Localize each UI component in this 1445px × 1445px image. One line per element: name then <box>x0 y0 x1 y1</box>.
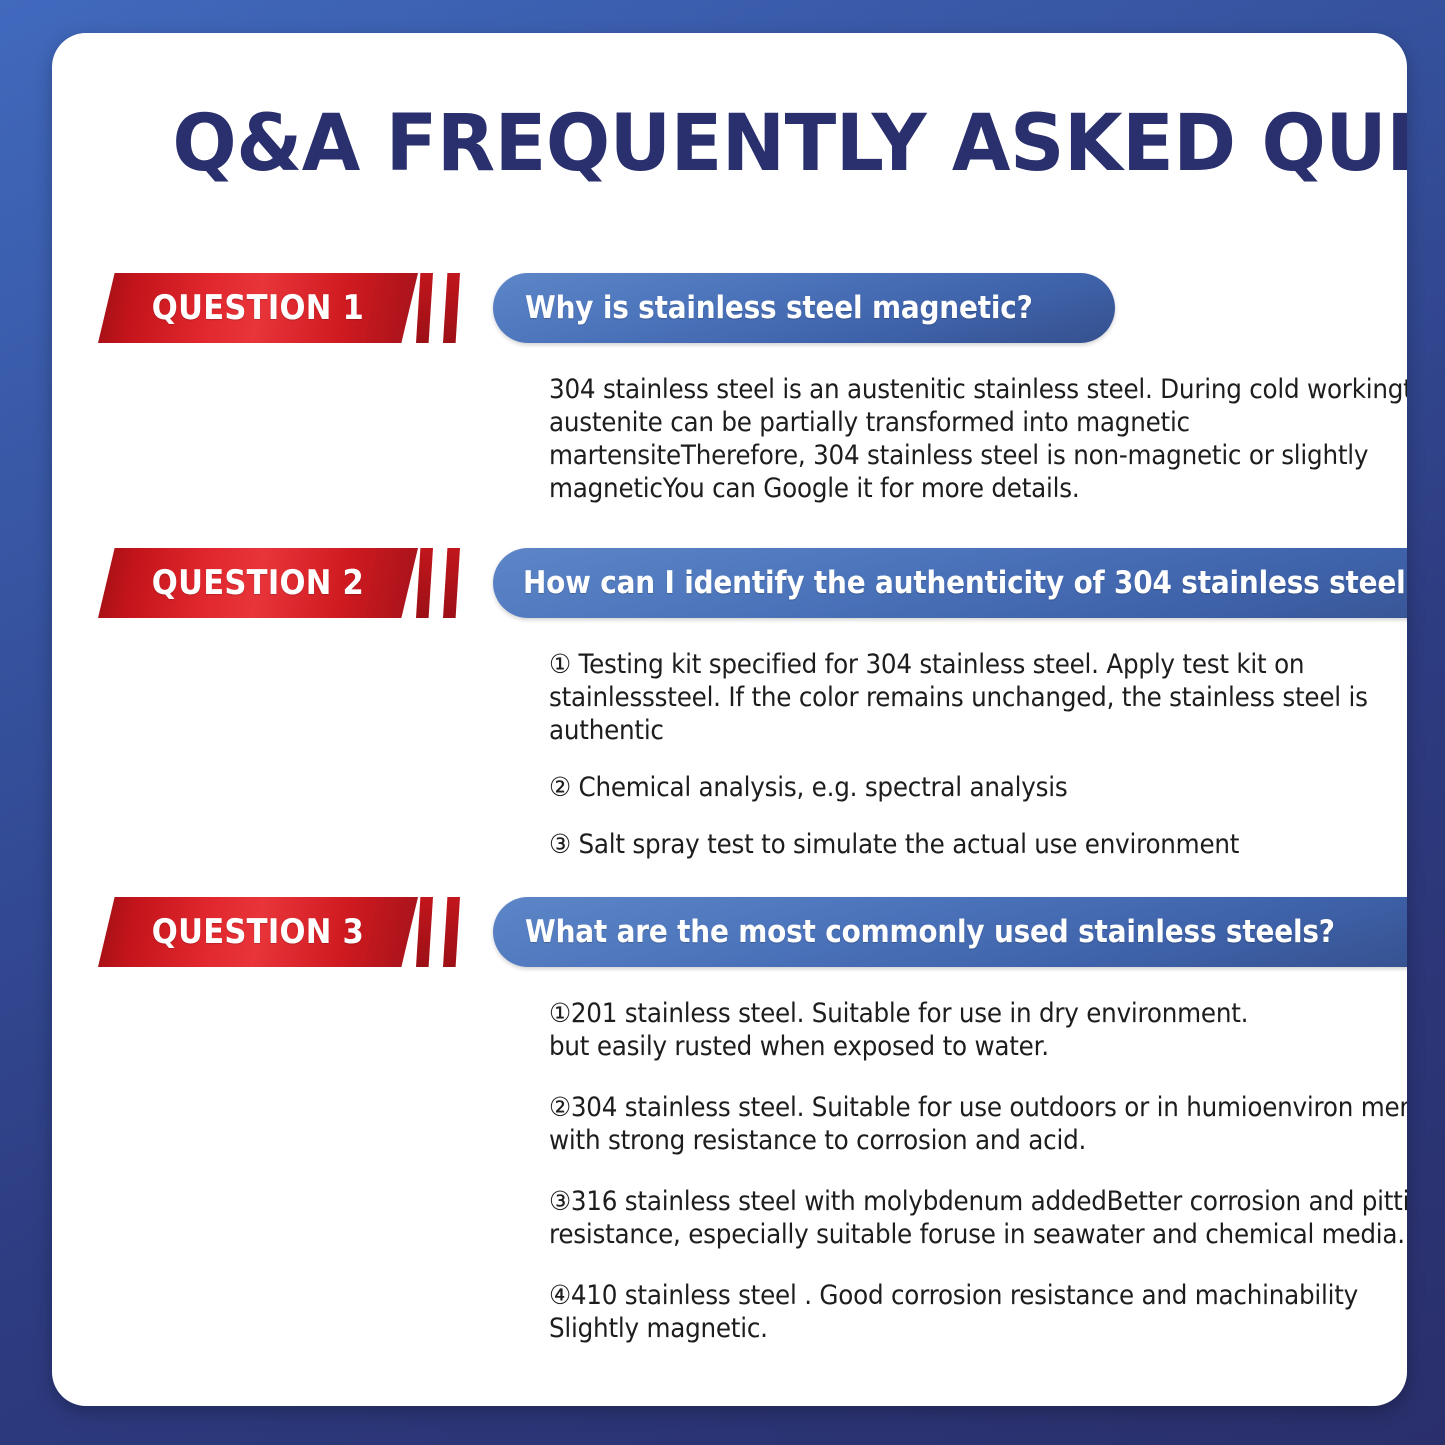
question-pill-1[interactable]: Why is stainless steel magnetic? <box>493 273 1115 343</box>
answer-paragraph: ② Chemical analysis, e.g. spectral analy… <box>549 771 1407 804</box>
question-tag-label: QUESTION 3 <box>152 912 364 952</box>
question-banner-2: QUESTION 2 How can I identify the authen… <box>52 548 1407 618</box>
slash-icon-3b <box>443 897 460 967</box>
question-tag-label: QUESTION 1 <box>152 288 364 328</box>
question-pill-2[interactable]: How can I identify the authenticity of 3… <box>493 548 1407 618</box>
page-background: Q&A FREQUENTLY ASKED QUESTIONS QUESTION … <box>0 0 1445 1445</box>
question-pill-3[interactable]: What are the most commonly used stainles… <box>493 897 1407 967</box>
answer-paragraph: ①201 stainless steel. Suitable for use i… <box>549 997 1407 1063</box>
slash-icon-1b <box>443 273 460 343</box>
page-title: Q&A FREQUENTLY ASKED QUESTIONS <box>172 105 1297 183</box>
slash-icon-1a <box>416 273 433 343</box>
question-banner-3: QUESTION 3 What are the most commonly us… <box>52 897 1407 967</box>
qa-block-2: QUESTION 2 How can I identify the authen… <box>52 548 1407 618</box>
question-banner-1: QUESTION 1 Why is stainless steel magnet… <box>52 273 1407 343</box>
answer-list-1: 304 stainless steel is an austenitic sta… <box>549 373 1407 505</box>
question-tag-1[interactable]: QUESTION 1 <box>98 273 418 343</box>
answer-list-2: ① Testing kit specified for 304 stainles… <box>549 648 1407 861</box>
answer-paragraph: 304 stainless steel is an austenitic sta… <box>549 373 1407 505</box>
slash-icon-2b <box>443 548 460 618</box>
slash-icon-3a <box>416 897 433 967</box>
answer-paragraph: ②304 stainless steel. Suitable for use o… <box>549 1091 1407 1157</box>
answer-paragraph: ③316 stainless steel with molybdenum add… <box>549 1185 1407 1251</box>
question-pill-label: What are the most commonly used stainles… <box>525 914 1335 950</box>
slash-icon-2a <box>416 548 433 618</box>
faq-card: Q&A FREQUENTLY ASKED QUESTIONS QUESTION … <box>52 33 1407 1406</box>
answer-paragraph: ③ Salt spray test to simulate the actual… <box>549 828 1407 861</box>
question-tag-label: QUESTION 2 <box>152 563 364 603</box>
question-tag-2[interactable]: QUESTION 2 <box>98 548 418 618</box>
answer-paragraph: ① Testing kit specified for 304 stainles… <box>549 648 1407 747</box>
answer-list-3: ①201 stainless steel. Suitable for use i… <box>549 997 1407 1345</box>
qa-block-3: QUESTION 3 What are the most commonly us… <box>52 897 1407 967</box>
question-pill-label: How can I identify the authenticity of 3… <box>523 565 1407 601</box>
qa-block-1: QUESTION 1 Why is stainless steel magnet… <box>52 273 1407 343</box>
question-tag-3[interactable]: QUESTION 3 <box>98 897 418 967</box>
answer-paragraph: ④410 stainless steel . Good corrosion re… <box>549 1279 1407 1345</box>
question-pill-label: Why is stainless steel magnetic? <box>525 290 1033 326</box>
